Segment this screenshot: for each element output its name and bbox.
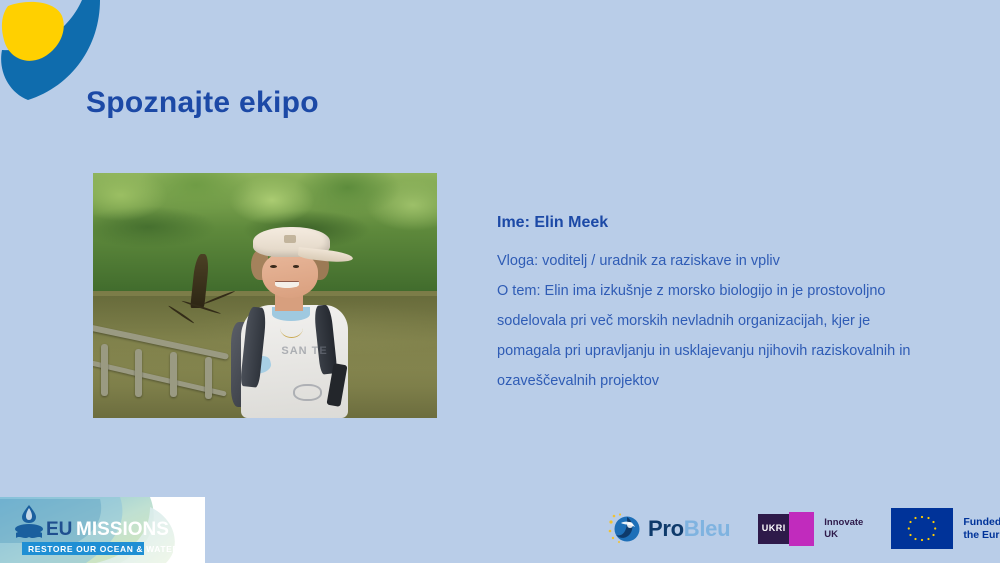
ukri-innovate-uk-logo: UKRI Innovate UK (758, 512, 863, 546)
member-name: Ime: Elin Meek (497, 214, 917, 232)
ukri-mark-icon: UKRI (758, 512, 816, 546)
photo-shirt-print: SAN TE (279, 345, 331, 379)
photo-shirt-badge (293, 384, 322, 401)
innovate-uk-label-line1: Innovate (824, 517, 863, 529)
ukri-monogram-text: UKRI (762, 524, 786, 534)
probleu-word-pro: Pro (648, 516, 684, 541)
photo-person: SAN TE (203, 227, 375, 418)
probleu-logo: ProBleu (608, 513, 730, 545)
probleu-word-bleu: Bleu (684, 516, 730, 541)
eu-funding-logo: Funded by the European Union (891, 508, 1000, 549)
ukri-monogram: UKRI (758, 514, 789, 544)
innovate-uk-label: Innovate UK (824, 517, 863, 540)
member-about: O tem: Elin ima izkušnje z morsko biolog… (497, 276, 917, 396)
eu-flag-icon (891, 508, 953, 549)
footer: EU MISSIONS RESTORE OUR OCEAN & WATERS (0, 489, 1000, 563)
page-title: Spoznajte ekipo (86, 86, 319, 120)
photo-cap-logo (284, 235, 296, 243)
innovate-uk-label-line2: UK (824, 529, 863, 541)
member-role: Vloga: voditelj / uradnik za raziskave i… (497, 246, 917, 276)
photo-necklace (280, 319, 302, 338)
svg-text:EU: EU (46, 519, 72, 540)
probleu-wordmark: ProBleu (648, 516, 730, 542)
eu-funding-label: Funded by the European Union (963, 516, 1000, 542)
funder-logos: ProBleu UKRI Innovate UK (608, 508, 1000, 549)
svg-text:MISSIONS: MISSIONS (76, 519, 169, 540)
team-member-photo: SAN TE (93, 173, 437, 418)
slide-canvas: Spoznajte ekipo (0, 0, 1000, 563)
eu-missions-logo: EU MISSIONS RESTORE OUR OCEAN & WATERS (0, 497, 205, 563)
probleu-globe-icon (608, 513, 642, 545)
eu-funding-label-line1: Funded by (963, 516, 1000, 529)
svg-text:RESTORE OUR OCEAN & WATERS: RESTORE OUR OCEAN & WATERS (28, 544, 185, 554)
team-member-info: Ime: Elin Meek Vloga: voditelj / uradnik… (497, 214, 917, 396)
eu-funding-label-line2: the European Union (963, 529, 1000, 542)
